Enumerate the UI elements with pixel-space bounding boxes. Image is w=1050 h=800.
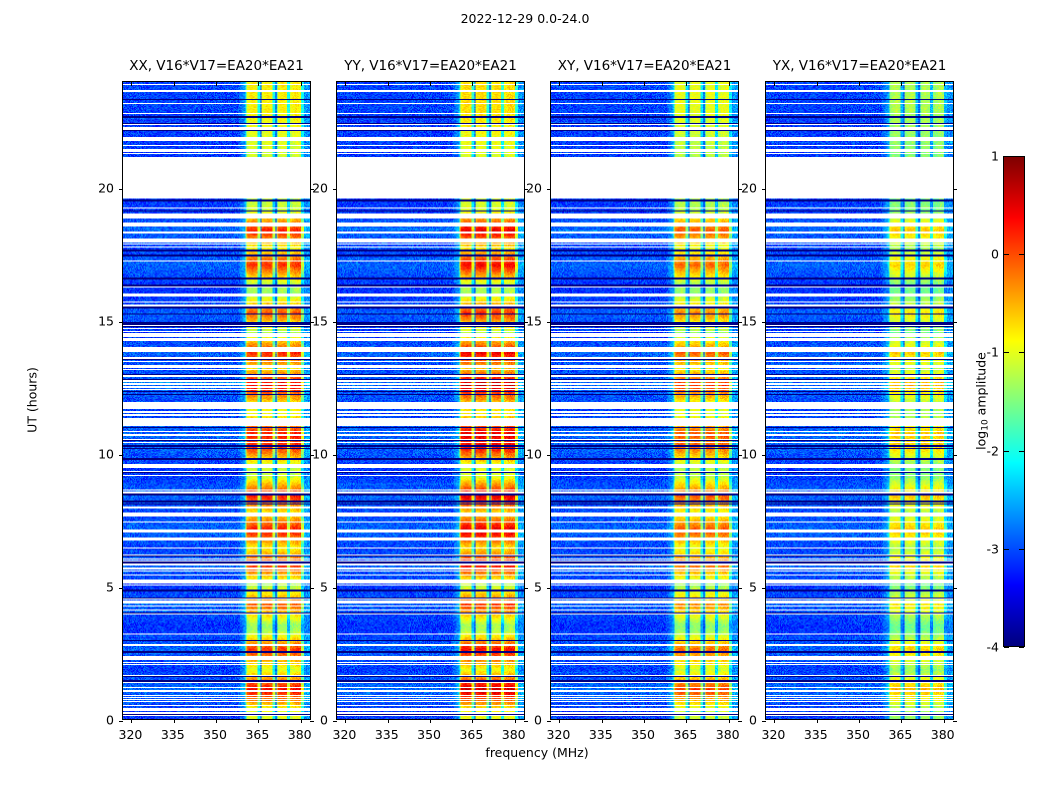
x-tick-mark-top [774,82,775,86]
heatmap-image-yy [337,82,524,719]
waterfall-panel-yx: YX, V16*V17=EA20*EA213203353503653800510… [765,81,954,720]
colorbar-tick-label: -3 [987,541,999,556]
y-tick-mark-right [953,189,957,190]
y-tick-labels-yx: 05101520 [719,81,765,720]
waterfall-panel-xy: XY, V16*V17=EA20*EA213203353503653800510… [550,81,739,720]
x-tick-labels-yx: 320335350365380 [765,722,954,742]
heatmap-image-xx [123,82,310,719]
x-tick-mark-top [644,82,645,86]
x-tick-label: 335 [161,727,185,742]
y-tick-mark-right [953,322,957,323]
x-tick-label: 320 [119,727,143,742]
colorbar-tick-mark-right [1019,647,1024,648]
colorbar-tick-label: 0 [991,247,999,262]
y-tick-label: 10 [741,446,757,461]
colorbar-axis-label: log10 amplitude [974,352,989,450]
x-tick-label: 335 [589,727,613,742]
x-tick-mark-top [430,82,431,86]
panel-axes-xx [122,81,311,720]
panel-axes-yx [765,81,954,720]
colorbar-tick-label: -1 [987,345,999,360]
y-tick-label: 20 [741,180,757,195]
x-tick-labels-xx: 320335350365380 [122,722,311,742]
figure-suptitle: 2022-12-29 0.0-24.0 [0,11,1050,26]
x-tick-mark-top [345,82,346,86]
x-tick-label: 380 [716,727,740,742]
colorbar-tick-mark [1004,352,1009,353]
x-tick-label: 350 [203,727,227,742]
x-tick-labels-yy: 320335350365380 [336,722,525,742]
y-tick-labels-xy: 05101520 [504,81,550,720]
x-tick-label: 365 [673,727,697,742]
colorbar-tick-label: -4 [987,640,999,655]
colorbar-tick-label: -2 [987,443,999,458]
y-tick-label: 5 [320,579,328,594]
x-tick-mark-top [472,82,473,86]
x-tick-label: 380 [502,727,526,742]
panel-title-xy: XY, V16*V17=EA20*EA21 [558,58,732,74]
x-tick-mark-top [686,82,687,86]
y-tick-label: 5 [106,579,114,594]
colorbar-tick-mark [1004,647,1009,648]
y-tick-label: 15 [526,313,542,328]
y-tick-label: 0 [106,713,114,728]
waterfall-panel-xx: XX, V16*V17=EA20*EA213203353503653800510… [122,81,311,720]
y-tick-label: 5 [749,579,757,594]
x-tick-label: 320 [333,727,357,742]
y-tick-label: 15 [741,313,757,328]
x-tick-mark-top [258,82,259,86]
y-tick-label: 10 [526,446,542,461]
y-tick-label: 15 [98,313,114,328]
colorbar-tick-mark [1004,156,1009,157]
y-tick-mark-right [953,455,957,456]
x-tick-mark-top [602,82,603,86]
x-tick-label: 320 [762,727,786,742]
y-tick-mark-right [953,588,957,589]
waterfall-panel-yy: YY, V16*V17=EA20*EA213203353503653800510… [336,81,525,720]
y-tick-label: 20 [312,180,328,195]
y-tick-labels-xx: 05101520 [76,81,122,720]
x-tick-label: 365 [888,727,912,742]
x-tick-label: 320 [547,727,571,742]
x-tick-label: 365 [245,727,269,742]
y-tick-label: 10 [98,446,114,461]
x-tick-label: 365 [459,727,483,742]
heatmap-image-yx [766,82,953,719]
colorbar-tick-mark-right [1019,352,1024,353]
x-tick-label: 350 [631,727,655,742]
y-tick-label: 15 [312,313,328,328]
x-tick-mark-top [388,82,389,86]
colorbar-tick-mark [1004,549,1009,550]
x-tick-mark-top [559,82,560,86]
colorbar-tick-mark-right [1019,549,1024,550]
x-tick-mark-top [859,82,860,86]
colorbar-tick-mark-right [1019,451,1024,452]
panel-title-yx: YX, V16*V17=EA20*EA21 [773,58,947,74]
panel-axes-xy [550,81,739,720]
colorbar-tick-mark-right [1019,156,1024,157]
y-axis-label: UT (hours) [25,367,40,433]
x-tick-mark-top [174,82,175,86]
y-tick-label: 0 [320,713,328,728]
x-axis-label: frequency (MHz) [485,745,588,760]
y-tick-label: 0 [534,713,542,728]
y-tick-labels-yy: 05101520 [290,81,336,720]
heatmap-image-xy [551,82,738,719]
y-tick-label: 0 [749,713,757,728]
x-tick-mark-top [131,82,132,86]
x-tick-mark-top [901,82,902,86]
colorbar-tick-mark [1004,451,1009,452]
y-tick-label: 20 [98,180,114,195]
x-tick-mark-top [944,82,945,86]
x-tick-label: 380 [931,727,955,742]
y-tick-label: 10 [312,446,328,461]
x-tick-mark-top [817,82,818,86]
x-tick-label: 350 [846,727,870,742]
colorbar-tick-mark [1004,254,1009,255]
panel-title-yy: YY, V16*V17=EA20*EA21 [344,58,517,74]
colorbar-tick-mark-right [1019,254,1024,255]
y-tick-label: 5 [534,579,542,594]
colorbar-tick-label: 1 [991,149,999,164]
x-tick-mark-top [216,82,217,86]
figure-canvas-area: 2022-12-29 0.0-24.0 UT (hours) frequency… [0,0,1050,800]
x-tick-label: 335 [804,727,828,742]
colorbar-gradient [1003,156,1025,647]
x-tick-label: 350 [417,727,441,742]
panel-axes-yy [336,81,525,720]
panel-title-xx: XX, V16*V17=EA20*EA21 [129,58,304,74]
x-tick-labels-xy: 320335350365380 [550,722,739,742]
x-tick-label: 335 [375,727,399,742]
x-tick-label: 380 [288,727,312,742]
y-tick-label: 20 [526,180,542,195]
colorbar: -4-3-2-101 [1003,156,1025,647]
